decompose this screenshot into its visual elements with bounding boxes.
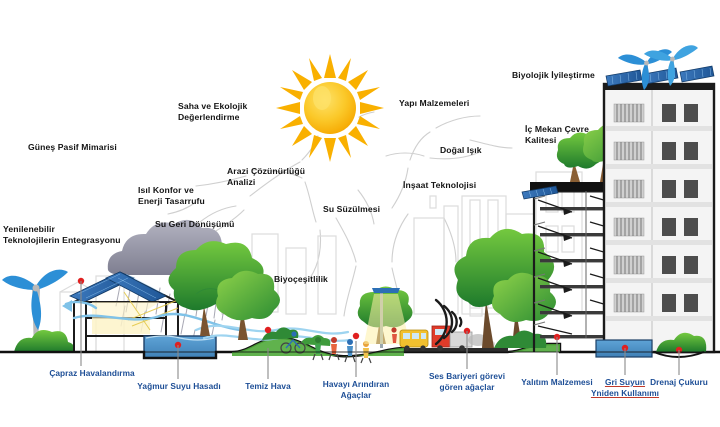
label-gunes-pasif-mimarisi: Güneş Pasif Mimarisi	[28, 142, 117, 153]
label-arazi-cozunurlugu-analizi: Arazi Çözünürlüğü Analizi	[227, 166, 305, 188]
label-havayi-arindiran-agaclar: Havayı Arındıran Ağaçlar	[314, 379, 398, 400]
label-capraz-havalandirma: Çapraz Havalandırma	[37, 368, 147, 379]
label-yapi-malzemeleri: Yapı Malzemeleri	[399, 98, 469, 109]
label-ses-bariyeri-goreni-agaclar: Ses Bariyeri görevi gören ağaçlar	[421, 371, 513, 392]
infographic-canvas: Güneş Pasif MimarisiYenilenebilir Teknol…	[0, 0, 720, 427]
label-temiz-hava: Temiz Hava	[237, 381, 299, 392]
label-drenaj-cukuru: Drenaj Çukuru	[643, 377, 715, 388]
label-ic-mekan-cevre-kalitesi: İç Mekan Çevre Kalitesi	[525, 124, 589, 146]
label-yagmur-suyu-hasadi: Yağmur Suyu Hasadı	[131, 381, 227, 392]
label-biyolojik-iyilestirme: Biyolojik İyileştirme	[512, 70, 595, 81]
label-su-suzulmesi: Su Süzülmesi	[323, 204, 380, 215]
label-biyocesitlilik: Biyoçeşitlilik	[274, 274, 328, 285]
label-yenilenebilir-teknolojilerin-entegrasyonu: Yenilenebilir Teknolojilerin Entegrasyon…	[3, 224, 121, 246]
label-isil-konfor-ve-enerji-tasarrufu: Isıl Konfor ve Enerji Tasarrufu	[138, 185, 205, 207]
label-dogal-isik: Doğal Işık	[440, 145, 482, 156]
label-su-geri-donusumu: Su Geri Dönüşümü	[155, 219, 234, 230]
label-saha-ve-ekolojik-degerlendirme: Saha ve Ekolojik Değerlendirme	[178, 101, 247, 123]
label-insaat-teknolojisi: İnşaat Teknolojisi	[403, 180, 476, 191]
